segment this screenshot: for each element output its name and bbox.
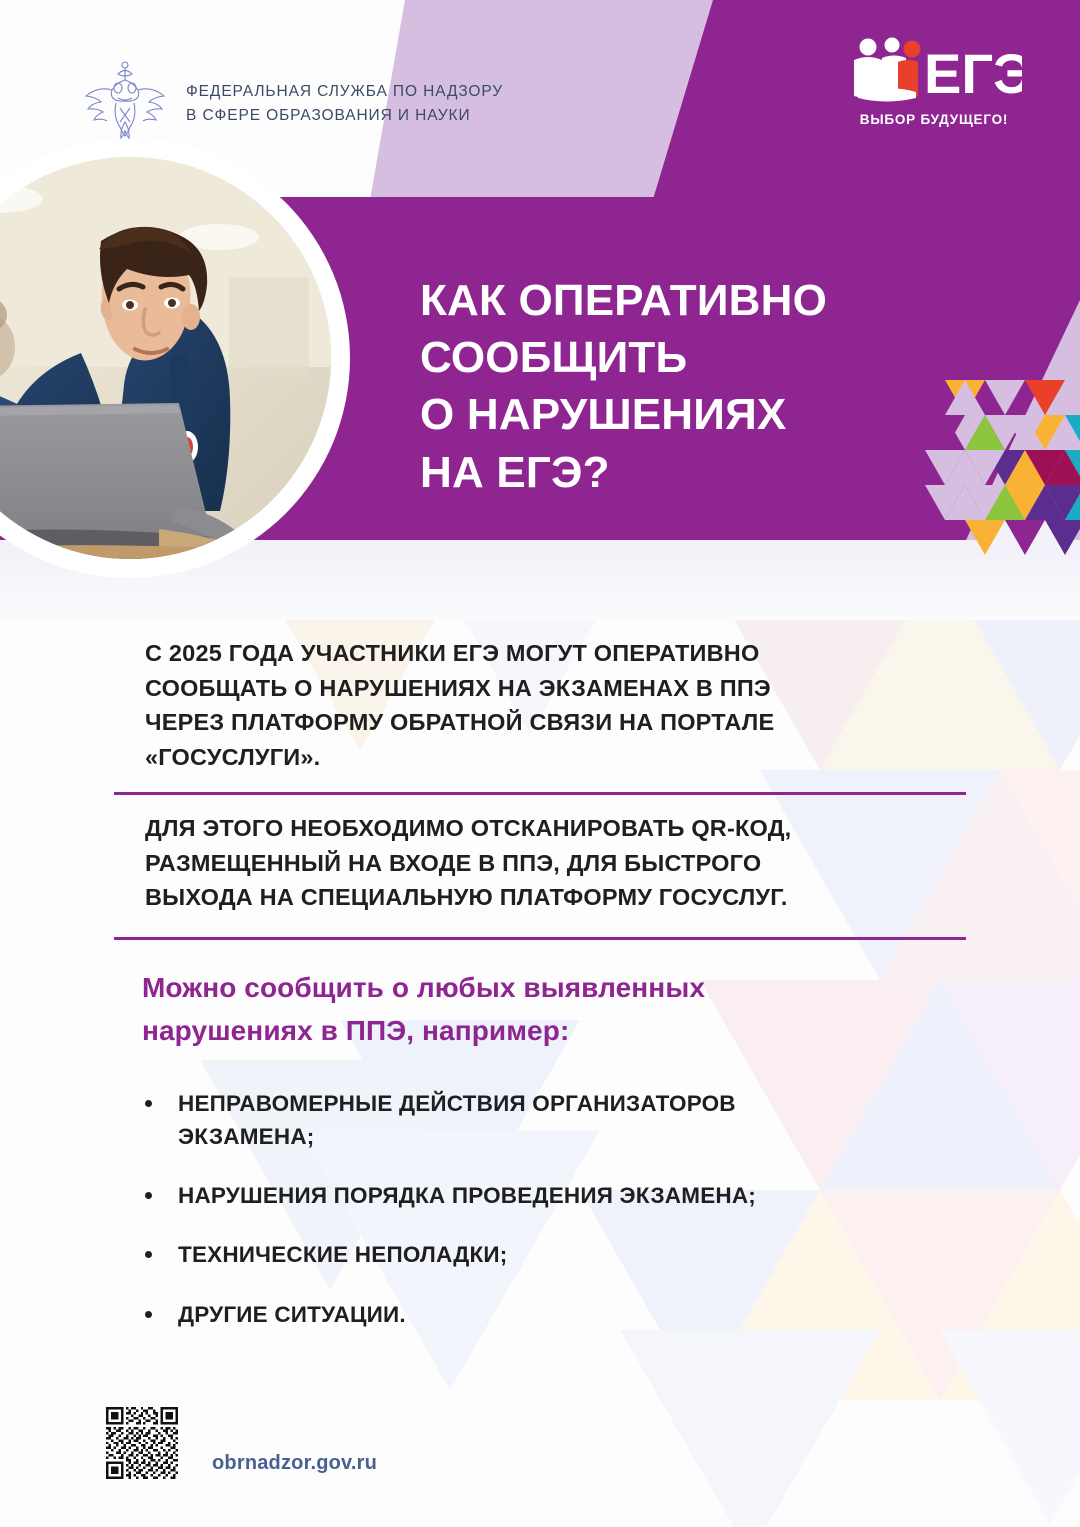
poster-root: ФЕДЕРАЛЬНАЯ СЛУЖБА ПО НАДЗОРУ В СФЕРЕ ОБ… <box>0 0 1080 1527</box>
agency-name-line2: В СФЕРЕ ОБРАЗОВАНИЯ И НАУКИ <box>186 104 503 128</box>
intro-line-4: «ГОСУСЛУГИ». <box>145 740 905 775</box>
page-title: КАК ОПЕРАТИВНО СООБЩИТЬ О НАРУШЕНИЯХ НА … <box>420 272 940 501</box>
list-item-line-1: НАРУШЕНИЯ ПОРЯДКА ПРОВЕДЕНИЯ ЭКЗАМЕНА; <box>178 1179 942 1212</box>
agency-name: ФЕДЕРАЛЬНАЯ СЛУЖБА ПО НАДЗОРУ В СФЕРЕ ОБ… <box>186 80 503 128</box>
list-item-line-1: ТЕХНИЧЕСКИЕ НЕПОЛАДКИ; <box>178 1238 942 1271</box>
list-item-line-2: ЭКЗАМЕНА; <box>178 1120 942 1153</box>
section-subheading: Можно сообщить о любых выявленных наруше… <box>142 966 922 1053</box>
rosobrnadzor-logo: ФЕДЕРАЛЬНАЯ СЛУЖБА ПО НАДЗОРУ В СФЕРЕ ОБ… <box>82 58 503 150</box>
triangle-mosaic-decoration <box>925 380 1080 555</box>
watermark-triangle <box>940 1330 1080 1525</box>
svg-text:ЕГЭ: ЕГЭ <box>924 42 1022 105</box>
watermark-triangle <box>620 1330 880 1527</box>
intro-line-1: С 2025 ГОДА УЧАСТНИКИ ЕГЭ МОГУТ ОПЕРАТИВ… <box>145 636 905 671</box>
list-item: НАРУШЕНИЯ ПОРЯДКА ПРОВЕДЕНИЯ ЭКЗАМЕНА; <box>142 1179 942 1212</box>
qr-code-icon[interactable] <box>106 1407 178 1479</box>
title-line-3: О НАРУШЕНИЯХ <box>420 386 940 443</box>
divider-2 <box>114 937 966 940</box>
title-line-2: СООБЩИТЬ <box>420 329 940 386</box>
ege-tagline: ВЫБОР БУДУЩЕГО! <box>860 112 1008 127</box>
list-item: ТЕХНИЧЕСКИЕ НЕПОЛАДКИ; <box>142 1238 942 1271</box>
violations-list: НЕПРАВОМЕРНЫЕ ДЕЙСТВИЯ ОРГАНИЗАТОРОВ ЭКЗ… <box>142 1087 942 1331</box>
site-url[interactable]: obrnadzor.gov.ru <box>212 1452 377 1479</box>
instruction-line-2: РАЗМЕЩЕННЫЙ НА ВХОДЕ В ППЭ, ДЛЯ БЫСТРОГО <box>145 846 905 881</box>
double-headed-eagle-emblem-icon <box>82 58 168 150</box>
intro-line-3: ЧЕРЕЗ ПЛАТФОРМУ ОБРАТНОЙ СВЯЗИ НА ПОРТАЛ… <box>145 705 905 740</box>
ege-people-shield-icon: ЕГЭ <box>846 36 1022 111</box>
title-line-4: НА ЕГЭ? <box>420 444 940 501</box>
divider-1 <box>114 792 966 795</box>
instruction-line-1: ДЛЯ ЭТОГО НЕОБХОДИМО ОТСКАНИРОВАТЬ QR-КО… <box>145 811 905 846</box>
title-line-1: КАК ОПЕРАТИВНО <box>420 272 940 329</box>
agency-name-line1: ФЕДЕРАЛЬНАЯ СЛУЖБА ПО НАДЗОРУ <box>186 80 503 104</box>
intro-paragraph: С 2025 ГОДА УЧАСТНИКИ ЕГЭ МОГУТ ОПЕРАТИВ… <box>145 636 905 774</box>
list-item: ДРУГИЕ СИТУАЦИИ. <box>142 1298 942 1331</box>
subheading-line-1: Можно сообщить о любых выявленных <box>142 966 922 1009</box>
footer: obrnadzor.gov.ru <box>106 1407 377 1479</box>
list-item-line-1: НЕПРАВОМЕРНЫЕ ДЕЙСТВИЯ ОРГАНИЗАТОРОВ <box>178 1087 942 1120</box>
instruction-paragraph: ДЛЯ ЭТОГО НЕОБХОДИМО ОТСКАНИРОВАТЬ QR-КО… <box>145 811 905 915</box>
ege-logo: ЕГЭ ВЫБОР БУДУЩЕГО! <box>846 36 1022 129</box>
subheading-line-2: нарушениях в ППЭ, например: <box>142 1009 922 1052</box>
list-item-line-1: ДРУГИЕ СИТУАЦИИ. <box>178 1298 942 1331</box>
list-item: НЕПРАВОМЕРНЫЕ ДЕЙСТВИЯ ОРГАНИЗАТОРОВ ЭКЗ… <box>142 1087 942 1154</box>
poster-content: С 2025 ГОДА УЧАСТНИКИ ЕГЭ МОГУТ ОПЕРАТИВ… <box>0 636 1080 1357</box>
intro-line-2: СООБЩАТЬ О НАРУШЕНИЯХ НА ЭКЗАМЕНАХ В ППЭ <box>145 671 905 706</box>
instruction-line-3: ВЫХОДА НА СПЕЦИАЛЬНУЮ ПЛАТФОРМУ ГОСУСЛУГ… <box>145 880 905 915</box>
